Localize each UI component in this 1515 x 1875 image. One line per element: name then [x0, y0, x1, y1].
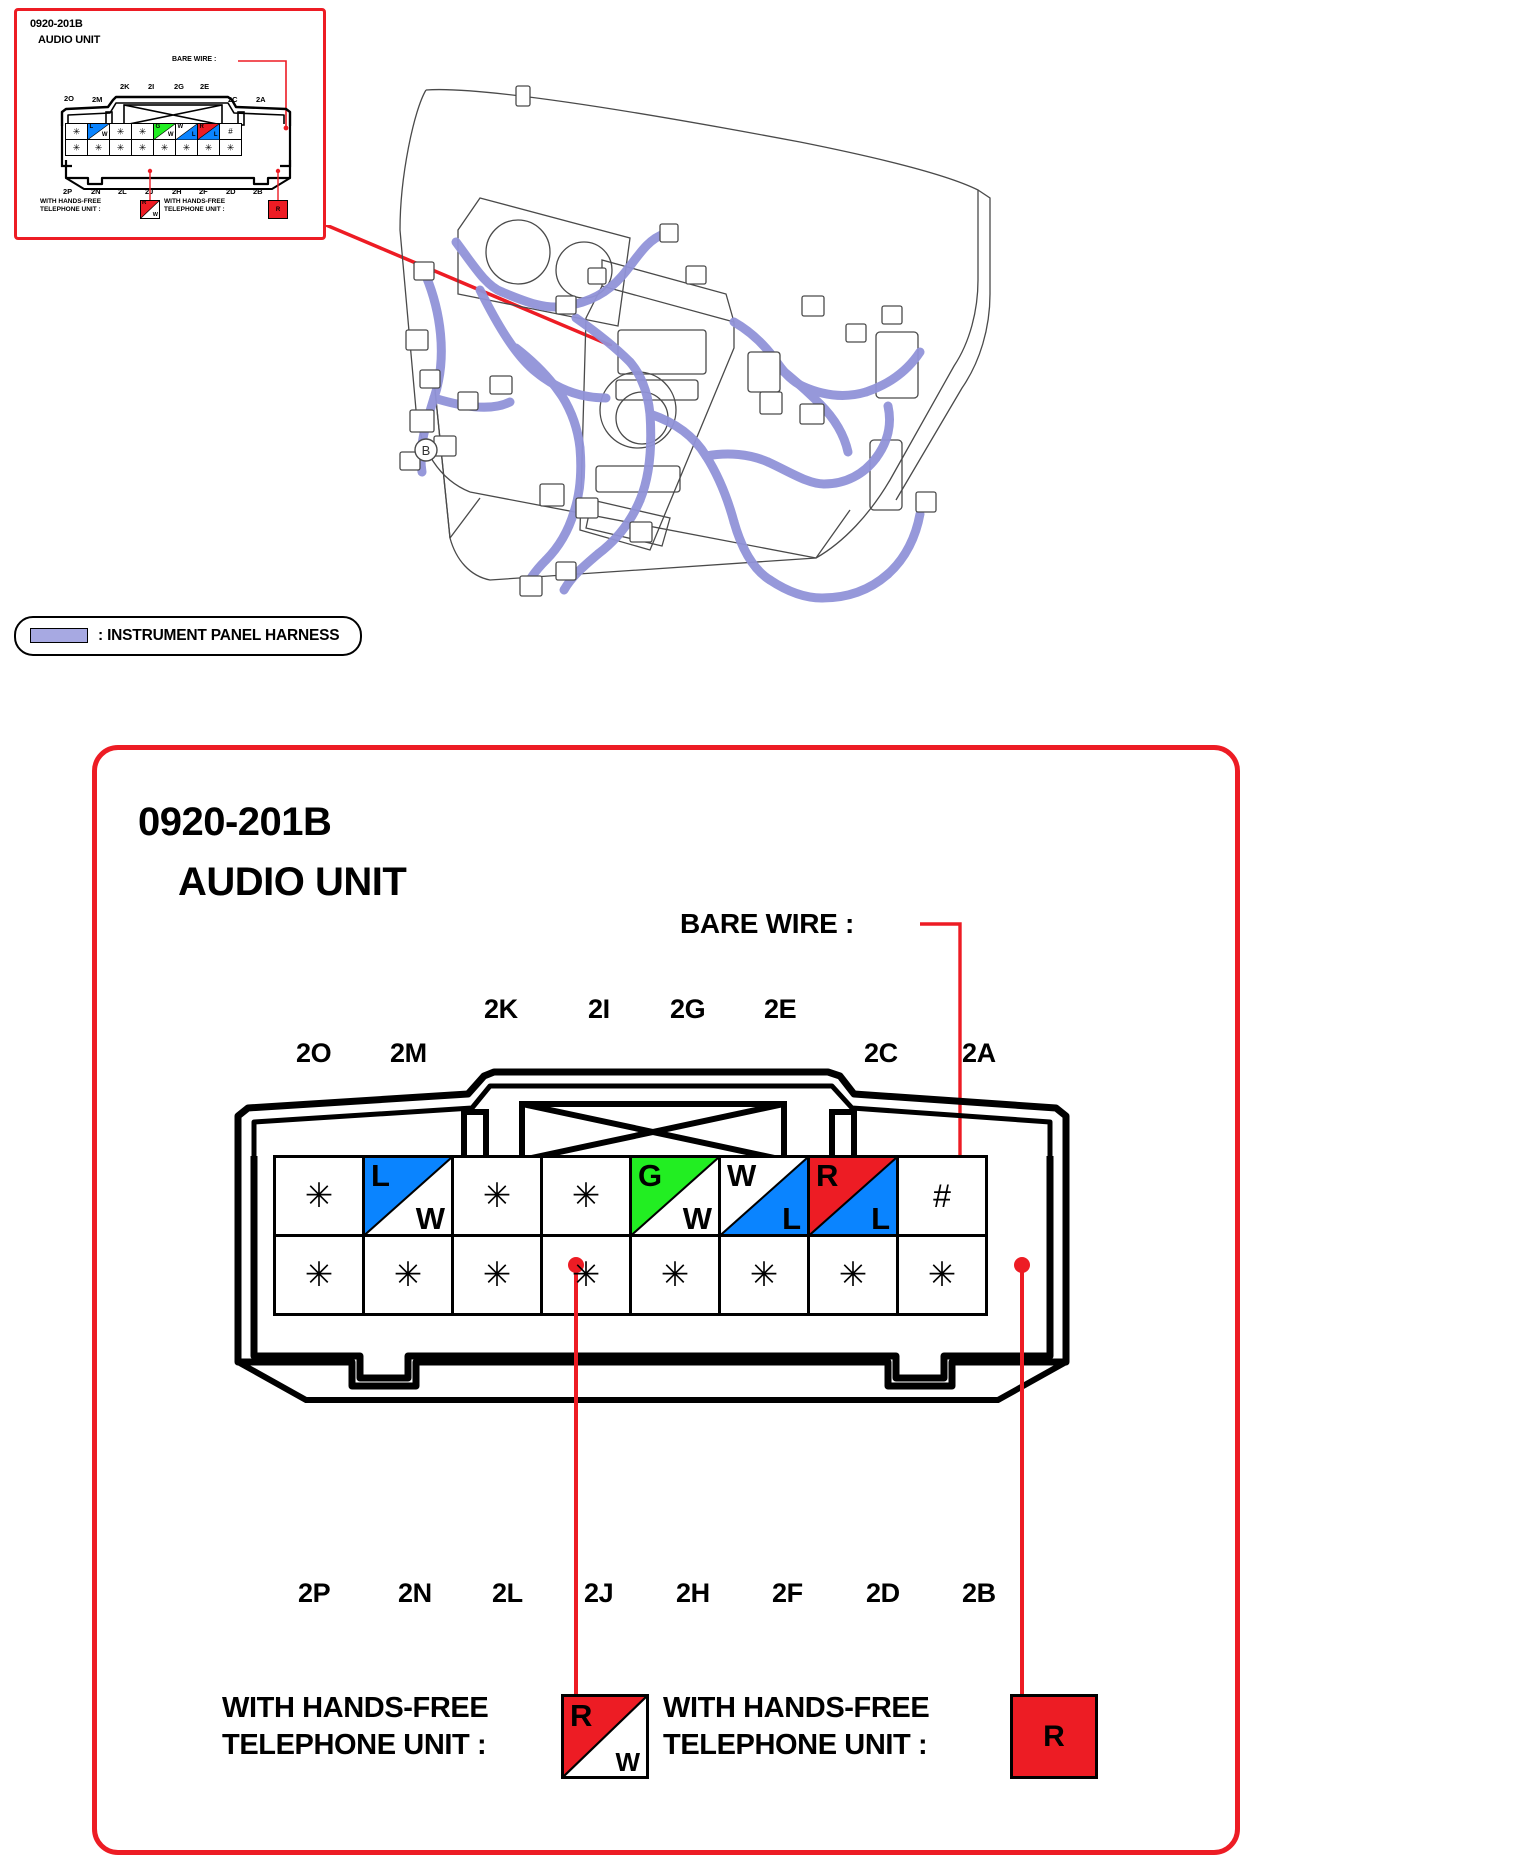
thumb-legend-swatch-letter: R [269, 207, 287, 213]
main-pin-row-bottom: ✳ ✳ ✳ ✳ ✳ ✳ ✳ ✳ [276, 1237, 988, 1316]
main-pin-2a-symbol: # [899, 1180, 985, 1212]
svg-text:B: B [422, 443, 431, 458]
main-bottom-label-2n: 2N [398, 1578, 432, 1609]
main-pin-cell-2h: ✳ [629, 1234, 721, 1316]
thumb-top-label-2g: 2G [174, 82, 184, 91]
thumb-legend-swatch-split: R W [140, 200, 160, 219]
thumb-pin-cell: RL [197, 123, 220, 140]
thumb-bottom-label-2b: 2B [253, 187, 263, 196]
thumb-pin-cell: GW [153, 123, 176, 140]
main-top-label-2g: 2G [670, 994, 705, 1025]
main-pin-cell-2k: ✳ [451, 1155, 543, 1237]
thumb-pin-cell: ✳ [219, 139, 242, 156]
thumb-pin-cell: ✳ [65, 123, 88, 140]
main-pin-2e-top-letter: W [727, 1160, 756, 1191]
main-legend-swatch-solid: R [1010, 1694, 1098, 1779]
main-bottom-label-2h: 2H [676, 1578, 710, 1609]
instrument-panel-harness-drawing: B [330, 80, 1010, 625]
thumb-legend-left-line1: WITH HANDS-FREE [40, 198, 101, 206]
main-part-number: 0920-201B [138, 800, 331, 845]
main-pin-2g-top-letter: G [638, 1160, 662, 1191]
main-legend-right-line1: WITH HANDS-FREE [663, 1690, 929, 1727]
thumb-legend-left: WITH HANDS-FREE TELEPHONE UNIT : [40, 198, 101, 214]
thumb-pin-cell: ✳ [65, 139, 88, 156]
main-bare-wire-label: BARE WIRE : [680, 908, 854, 940]
main-pin-row-top: ✳ L W ✳ ✳ G W W L R L # [276, 1158, 988, 1237]
main-top-label-2i: 2I [588, 994, 610, 1025]
thumb-pin-cell: ✳ [109, 123, 132, 140]
main-bottom-label-2l: 2L [492, 1578, 523, 1609]
thumb-bottom-label-2d: 2D [226, 187, 236, 196]
main-pin-2e-bottom-letter: L [782, 1203, 801, 1234]
main-connector-bottom-shell-icon [232, 1326, 1072, 1426]
thumb-bottom-label-2l: 2L [118, 187, 127, 196]
main-bottom-label-2f: 2F [772, 1578, 803, 1609]
thumb-pin-cell: ✳ [131, 139, 154, 156]
main-connector-upper-shell-icon [232, 1068, 1072, 1164]
main-legend-right: WITH HANDS-FREE TELEPHONE UNIT : [663, 1690, 929, 1764]
main-pin-cell-2l: ✳ [451, 1234, 543, 1316]
main-bottom-label-2b: 2B [962, 1578, 996, 1609]
main-pin-cell-2f: ✳ [718, 1234, 810, 1316]
main-bottom-label-2d: 2D [866, 1578, 900, 1609]
thumb-legend-right: WITH HANDS-FREE TELEPHONE UNIT : [164, 198, 225, 214]
thumb-legend-swatch-solid: R [268, 200, 288, 219]
thumb-pin-grid: ✳ LW ✳ ✳ GW WL RL # ✳ ✳ ✳ ✳ ✳ ✳ ✳ ✳ [66, 124, 242, 156]
main-bottom-label-2p: 2P [298, 1578, 330, 1609]
thumb-top-label-2a: 2A [256, 95, 266, 104]
main-leader-2b-icon [1010, 1255, 1034, 1705]
main-pin-2m-top-letter: L [371, 1160, 390, 1191]
main-top-label-2e: 2E [764, 994, 796, 1025]
thumb-bare-wire-label: BARE WIRE : [172, 56, 216, 63]
thumb-pin-cell: ✳ [131, 123, 154, 140]
main-pin-cell-2d: ✳ [807, 1234, 899, 1316]
main-pin-cell-2c: R L [807, 1155, 899, 1237]
harness-callout-b-icon: B [415, 439, 437, 461]
thumb-bottom-label-2h: 2H [172, 187, 182, 196]
main-pin-2g-bottom-letter: W [683, 1203, 712, 1234]
main-pin-cell-2o: ✳ [273, 1155, 365, 1237]
thumb-bottom-label-2f: 2F [199, 187, 208, 196]
main-legend-swatch-top-letter: R [570, 1700, 592, 1731]
main-pin-cell-2a: # [896, 1155, 988, 1237]
thumb-leader-2b-icon [270, 168, 286, 202]
main-top-label-2k: 2K [484, 994, 518, 1025]
harness-legend-text: : INSTRUMENT PANEL HARNESS [98, 627, 339, 645]
thumb-top-label-2c: 2C [228, 95, 238, 104]
main-pin-grid: ✳ L W ✳ ✳ G W W L R L # ✳ ✳ ✳ ✳ ✳ ✳ ✳ ✳ [276, 1158, 988, 1316]
main-pin-cell-2i: ✳ [540, 1155, 632, 1237]
thumb-pin-row-top: ✳ LW ✳ ✳ GW WL RL # [66, 124, 242, 140]
thumb-pin-cell: # [219, 123, 242, 140]
thumb-pin-row-bottom: ✳ ✳ ✳ ✳ ✳ ✳ ✳ ✳ [66, 140, 242, 156]
thumb-legend-swatch-bottom-letter: W [153, 212, 158, 218]
thumb-pin-cell: ✳ [153, 139, 176, 156]
thumb-top-label-2i: 2I [148, 82, 154, 91]
main-top-label-2c: 2C [864, 1038, 898, 1069]
thumb-pin-cell: ✳ [109, 139, 132, 156]
thumb-legend-swatch-top-letter: R [142, 200, 146, 206]
main-unit-name: AUDIO UNIT [178, 860, 406, 905]
thumb-legend-left-line2: TELEPHONE UNIT : [40, 206, 101, 214]
main-pin-cell-2b: ✳ [896, 1234, 988, 1316]
main-legend-left: WITH HANDS-FREE TELEPHONE UNIT : [222, 1690, 488, 1764]
main-top-label-2m: 2M [390, 1038, 427, 1069]
main-legend-left-line2: TELEPHONE UNIT : [222, 1727, 488, 1764]
thumb-leader-2j-icon [142, 168, 158, 202]
thumb-top-label-2k: 2K [120, 82, 130, 91]
main-pin-cell-2n: ✳ [362, 1234, 454, 1316]
thumb-bottom-label-2n: 2N [91, 187, 101, 196]
thumb-part-number: 0920-201B [30, 18, 83, 30]
main-legend-swatch-bottom-letter: W [615, 1749, 640, 1775]
main-pin-2c-top-letter: R [816, 1160, 838, 1191]
harness-legend-swatch [30, 628, 88, 643]
main-pin-cell-2m: L W [362, 1155, 454, 1237]
main-pin-cell-2p: ✳ [273, 1234, 365, 1316]
main-legend-swatch-split: R W [561, 1694, 649, 1779]
thumb-pin-cell: ✳ [197, 139, 220, 156]
thumb-top-label-2m: 2M [92, 95, 102, 104]
thumb-pin-cell: ✳ [175, 139, 198, 156]
thumb-bottom-label-2p: 2P [63, 187, 72, 196]
main-pin-cell-2e: W L [718, 1155, 810, 1237]
thumb-top-label-2o: 2O [64, 94, 74, 103]
thumb-pin-cell: LW [87, 123, 110, 140]
main-bottom-label-2j: 2J [584, 1578, 613, 1609]
main-top-label-2o: 2O [296, 1038, 331, 1069]
main-pin-cell-2g: G W [629, 1155, 721, 1237]
main-legend-swatch-letter: R [1013, 1720, 1095, 1754]
main-legend-right-line2: TELEPHONE UNIT : [663, 1727, 929, 1764]
thumb-legend-right-line1: WITH HANDS-FREE [164, 198, 225, 206]
main-top-label-2a: 2A [962, 1038, 996, 1069]
main-pin-2c-bottom-letter: L [871, 1203, 890, 1234]
main-pin-2m-bottom-letter: W [416, 1203, 445, 1234]
main-legend-left-line1: WITH HANDS-FREE [222, 1690, 488, 1727]
thumb-unit-name: AUDIO UNIT [38, 34, 100, 46]
thumb-pin-cell: ✳ [87, 139, 110, 156]
thumb-legend-right-line2: TELEPHONE UNIT : [164, 206, 225, 214]
main-leader-2j-icon [564, 1255, 588, 1705]
thumb-pin-cell: WL [175, 123, 198, 140]
thumb-top-label-2e: 2E [200, 82, 209, 91]
